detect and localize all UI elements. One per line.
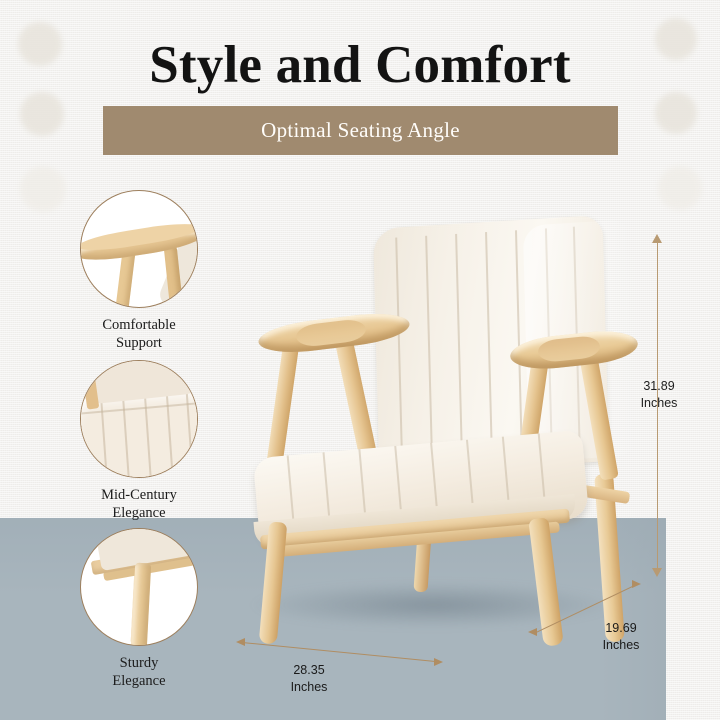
feature-label-line2: Support [64,334,214,352]
width-value: 28.35 [274,662,344,679]
feature-label-line1: Sturdy [64,654,214,672]
feature-mid-century-elegance[interactable]: Mid-Century Elegance [64,360,214,522]
depth-dimension-label: 19.69 Inches [586,620,656,654]
feature-sturdy-elegance[interactable]: Sturdy Elegance [64,528,214,690]
height-dimension-label: 31.89 Inches [624,378,694,412]
armrest-detail-icon [80,190,198,308]
decor-dot [20,166,66,212]
page-title: Style and Comfort [0,38,720,94]
height-value: 31.89 [624,378,694,395]
feature-label: Mid-Century Elegance [64,486,214,522]
width-unit: Inches [274,679,344,696]
depth-value: 19.69 [586,620,656,637]
cushion-fabric-detail-icon [80,360,198,478]
product-infographic: Style and Comfort Optimal Seating Angle … [0,0,720,720]
subtitle-banner: Optimal Seating Angle [103,106,618,155]
depth-arrow-right-icon [632,580,641,588]
width-dimension-line [242,642,439,663]
height-arrow-bottom-icon [652,568,662,577]
decor-dot [658,166,702,210]
decor-dot [20,92,64,136]
wooden-leg-detail-icon [80,528,198,646]
feature-label: Comfortable Support [64,316,214,352]
depth-unit: Inches [586,637,656,654]
height-unit: Inches [624,395,694,412]
feature-label-line2: Elegance [64,504,214,522]
width-dimension-label: 28.35 Inches [274,662,344,696]
feature-label-line1: Mid-Century [64,486,214,504]
width-arrow-right-icon [434,658,443,666]
feature-comfortable-support[interactable]: Comfortable Support [64,190,214,352]
feature-label-line2: Elegance [64,672,214,690]
feature-label-line1: Comfortable [64,316,214,334]
decor-dot [655,92,697,134]
feature-label: Sturdy Elegance [64,654,214,690]
subtitle-text: Optimal Seating Angle [261,118,460,143]
